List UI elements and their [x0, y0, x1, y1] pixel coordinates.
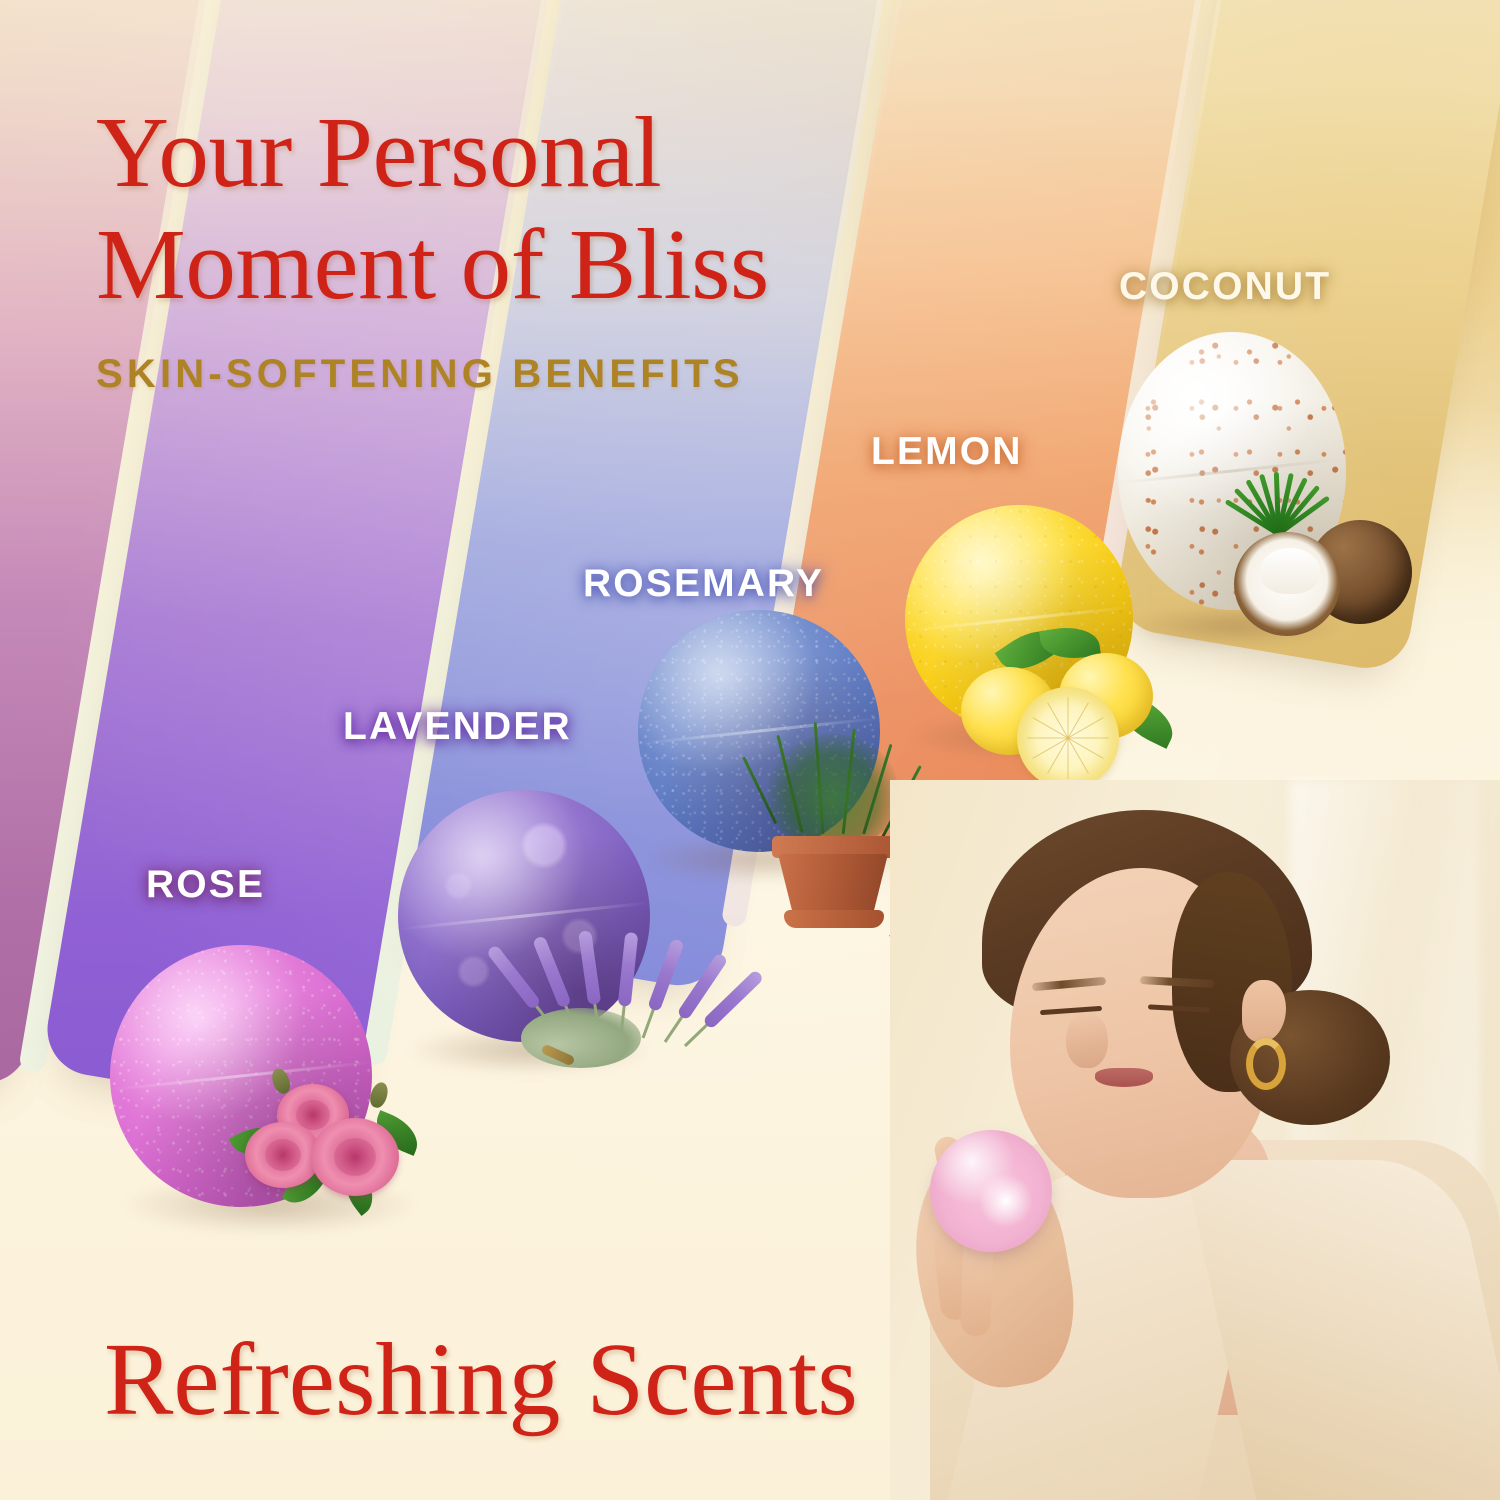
model-photo	[890, 780, 1500, 1500]
gold-hoop-earring	[1246, 1038, 1286, 1090]
bath-bomb-in-hand	[930, 1130, 1052, 1252]
lemon-slice	[1017, 687, 1119, 789]
scent-label-rosemary: ROSEMARY	[583, 562, 824, 606]
page-title: Your Personal Moment of Bliss	[96, 96, 1026, 320]
scent-label-lemon: LEMON	[871, 430, 1023, 474]
subtitle: SKIN-SOFTENING BENEFITS	[96, 352, 744, 397]
rose-cluster	[225, 1060, 425, 1210]
headline-line-2: Moment of Bliss	[96, 208, 1026, 320]
scent-label-rose: ROSE	[146, 863, 265, 907]
pot-saucer	[784, 910, 884, 928]
lemons-and-slice	[955, 625, 1185, 795]
scent-label-lavender: LAVENDER	[343, 705, 572, 749]
flower-pot	[778, 854, 888, 916]
headline-line-1: Your Personal	[96, 96, 661, 208]
product-banner: Your Personal Moment of Bliss SKIN-SOFTE…	[0, 0, 1500, 1500]
scent-label-coconut: COCONUT	[1119, 265, 1331, 309]
coconut-halves-with-palm	[1216, 470, 1416, 650]
footer-title: Refreshing Scents	[104, 1328, 858, 1432]
palm-frond	[1234, 470, 1318, 534]
lavender-sprigs	[505, 900, 755, 1090]
